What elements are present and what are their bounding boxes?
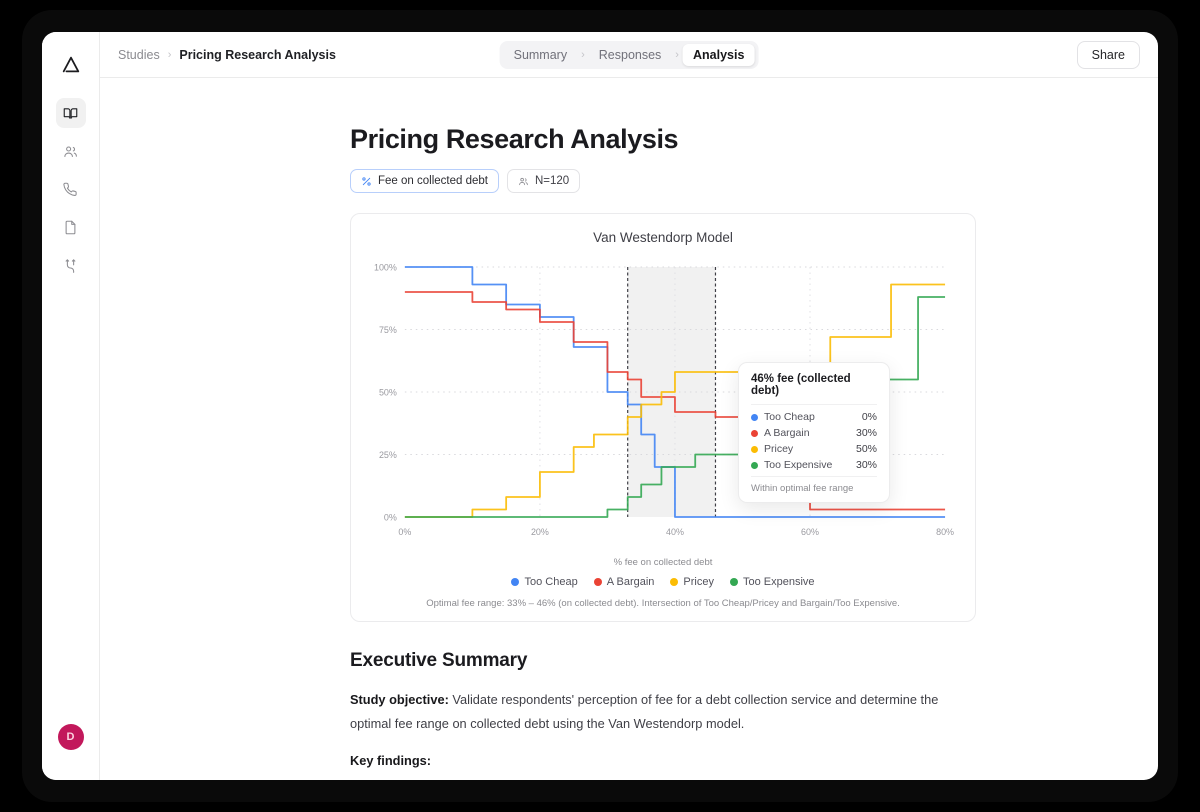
avatar[interactable]: D bbox=[58, 724, 84, 750]
pill-sample-size[interactable]: N=120 bbox=[507, 169, 580, 193]
delta-logo-icon[interactable] bbox=[56, 50, 86, 80]
findings-label: Key findings: bbox=[350, 753, 431, 768]
percent-icon bbox=[361, 176, 372, 187]
sidebar-item-flows[interactable] bbox=[56, 250, 86, 280]
device-frame: D Studies › Pricing Research Analysis Su… bbox=[22, 10, 1178, 802]
x-tick-label: 20% bbox=[531, 527, 549, 537]
sidebar-item-documents[interactable] bbox=[56, 212, 86, 242]
main-area: Studies › Pricing Research Analysis Summ… bbox=[100, 32, 1158, 780]
top-bar: Studies › Pricing Research Analysis Summ… bbox=[100, 32, 1158, 78]
pill-fee-on-collected-debt[interactable]: Fee on collected debt bbox=[350, 169, 499, 193]
series-dot-too-expensive bbox=[751, 462, 758, 469]
pill-label: Fee on collected debt bbox=[378, 175, 488, 187]
legend-label: A Bargain bbox=[607, 576, 655, 588]
legend-dot bbox=[730, 578, 738, 586]
pill-label: N=120 bbox=[535, 175, 569, 187]
sidebar-item-studies[interactable] bbox=[56, 98, 86, 128]
sidebar-item-participants[interactable] bbox=[56, 136, 86, 166]
content-scroll: Pricing Research Analysis Fee on collect… bbox=[100, 78, 1158, 780]
tab-responses[interactable]: Responses bbox=[589, 44, 672, 66]
legend-label: Too Cheap bbox=[524, 576, 577, 588]
chart-plot[interactable]: 0%25%50%75%100%0%20%40%60%80% 46% fee (c… bbox=[363, 255, 963, 555]
tooltip-row: Too Cheap 0% bbox=[751, 411, 877, 423]
tooltip-row-label: A Bargain bbox=[764, 427, 856, 439]
tooltip-row: Pricey 50% bbox=[751, 443, 877, 455]
y-tick-label: 75% bbox=[379, 325, 397, 335]
page-body: Pricing Research Analysis Fee on collect… bbox=[350, 124, 976, 780]
tooltip-row-value: 50% bbox=[856, 443, 877, 455]
series-dot-a-bargain bbox=[751, 430, 758, 437]
chevron-right-icon: › bbox=[168, 49, 172, 61]
app-screen: D Studies › Pricing Research Analysis Su… bbox=[42, 32, 1158, 780]
legend-item-too-expensive[interactable]: Too Expensive bbox=[730, 576, 815, 588]
legend-label: Pricey bbox=[683, 576, 714, 588]
y-tick-label: 100% bbox=[374, 262, 397, 272]
tab-separator-1: › bbox=[581, 49, 585, 61]
sidebar-item-calls[interactable] bbox=[56, 174, 86, 204]
summary-heading: Executive Summary bbox=[350, 650, 976, 672]
legend-item-a-bargain[interactable]: A Bargain bbox=[594, 576, 655, 588]
executive-summary: Executive Summary Study objective: Valid… bbox=[350, 650, 976, 780]
meta-pills: Fee on collected debt N=120 bbox=[350, 169, 976, 193]
tooltip-row-label: Pricey bbox=[764, 443, 856, 455]
tooltip-row-value: 0% bbox=[862, 411, 877, 423]
breadcrumb-current: Pricing Research Analysis bbox=[179, 48, 336, 62]
x-tick-label: 80% bbox=[936, 527, 954, 537]
legend-dot bbox=[670, 578, 678, 586]
tooltip-row: Too Expensive 30% bbox=[751, 459, 877, 471]
tooltip-row-label: Too Cheap bbox=[764, 411, 862, 423]
y-tick-label: 25% bbox=[379, 450, 397, 460]
people-icon bbox=[518, 176, 529, 187]
objective-label: Study objective: bbox=[350, 692, 449, 707]
tooltip-row-value: 30% bbox=[856, 427, 877, 439]
y-tick-label: 50% bbox=[379, 387, 397, 397]
share-button[interactable]: Share bbox=[1077, 41, 1140, 69]
breadcrumb: Studies › Pricing Research Analysis bbox=[118, 48, 336, 62]
tooltip-row-label: Too Expensive bbox=[764, 459, 856, 471]
view-tabs: Summary › Responses › Analysis bbox=[500, 41, 759, 69]
tooltip-footer: Within optimal fee range bbox=[751, 476, 877, 494]
sidebar: D bbox=[42, 32, 100, 780]
x-tick-label: 0% bbox=[398, 527, 411, 537]
breadcrumb-root[interactable]: Studies bbox=[118, 48, 160, 62]
chart-card: Van Westendorp Model 0%25%50%75%100%0%20… bbox=[350, 213, 976, 622]
tab-separator-2: › bbox=[675, 49, 679, 61]
summary-findings-label: Key findings: bbox=[350, 749, 976, 773]
summary-objective: Study objective: Validate respondents' p… bbox=[350, 688, 976, 735]
chart-footnote: Optimal fee range: 33% – 46% (on collect… bbox=[363, 598, 963, 609]
legend-item-pricey[interactable]: Pricey bbox=[670, 576, 714, 588]
y-tick-label: 0% bbox=[384, 512, 397, 522]
tooltip-title: 46% fee (collected debt) bbox=[751, 373, 877, 404]
chart-tooltip: 46% fee (collected debt) Too Cheap 0% bbox=[738, 362, 890, 503]
tab-analysis[interactable]: Analysis bbox=[683, 44, 754, 66]
legend-dot bbox=[511, 578, 519, 586]
x-tick-label: 60% bbox=[801, 527, 819, 537]
tooltip-rows: Too Cheap 0% A Bargain 30% bbox=[751, 404, 877, 471]
page-title: Pricing Research Analysis bbox=[350, 124, 976, 155]
chart-title: Van Westendorp Model bbox=[363, 230, 963, 245]
tooltip-row: A Bargain 30% bbox=[751, 427, 877, 439]
x-axis-label: % fee on collected debt bbox=[363, 557, 963, 568]
legend-item-too-cheap[interactable]: Too Cheap bbox=[511, 576, 577, 588]
series-dot-pricey bbox=[751, 446, 758, 453]
x-tick-label: 40% bbox=[666, 527, 684, 537]
tooltip-row-value: 30% bbox=[856, 459, 877, 471]
series-dot-too-cheap bbox=[751, 414, 758, 421]
legend-label: Too Expensive bbox=[743, 576, 815, 588]
chart-legend: Too Cheap A Bargain Pricey bbox=[363, 576, 963, 588]
legend-dot bbox=[594, 578, 602, 586]
tab-summary[interactable]: Summary bbox=[504, 44, 577, 66]
